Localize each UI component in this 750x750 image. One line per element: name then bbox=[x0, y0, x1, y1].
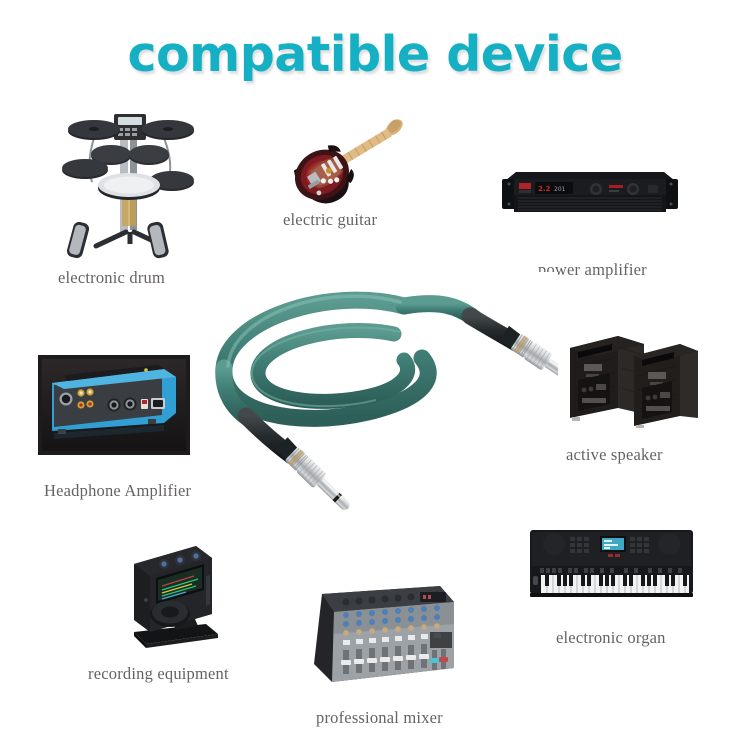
caption-electric-guitar: electric guitar bbox=[283, 210, 377, 230]
caption-headphone-amplifier: Headphone Amplifier bbox=[44, 481, 191, 501]
product-image-electric-guitar bbox=[285, 104, 420, 204]
product-image-active-speaker bbox=[558, 318, 703, 428]
product-image-electronic-organ bbox=[524, 520, 699, 612]
svg-text:201: 201 bbox=[554, 186, 566, 193]
compatible-device-infographic: compatible device bbox=[0, 0, 750, 750]
caption-electronic-drum: electronic drum bbox=[58, 268, 165, 288]
product-image-electronic-drum bbox=[52, 104, 232, 260]
product-image-recording-equipment bbox=[112, 528, 232, 653]
caption-active-speaker: active speaker bbox=[566, 445, 663, 465]
page-title: compatible device bbox=[0, 26, 750, 83]
product-image-headphone-amplifier bbox=[38, 355, 190, 455]
product-image-instrument-cable bbox=[208, 272, 558, 524]
caption-electronic-organ: electronic organ bbox=[556, 628, 666, 648]
product-image-power-amplifier: 2.2 201 bbox=[492, 164, 682, 226]
caption-professional-mixer: professional mixer bbox=[316, 708, 443, 728]
caption-recording-equipment: recording equipment bbox=[88, 664, 229, 684]
product-image-professional-mixer bbox=[302, 572, 460, 694]
svg-text:2.2: 2.2 bbox=[538, 185, 551, 193]
